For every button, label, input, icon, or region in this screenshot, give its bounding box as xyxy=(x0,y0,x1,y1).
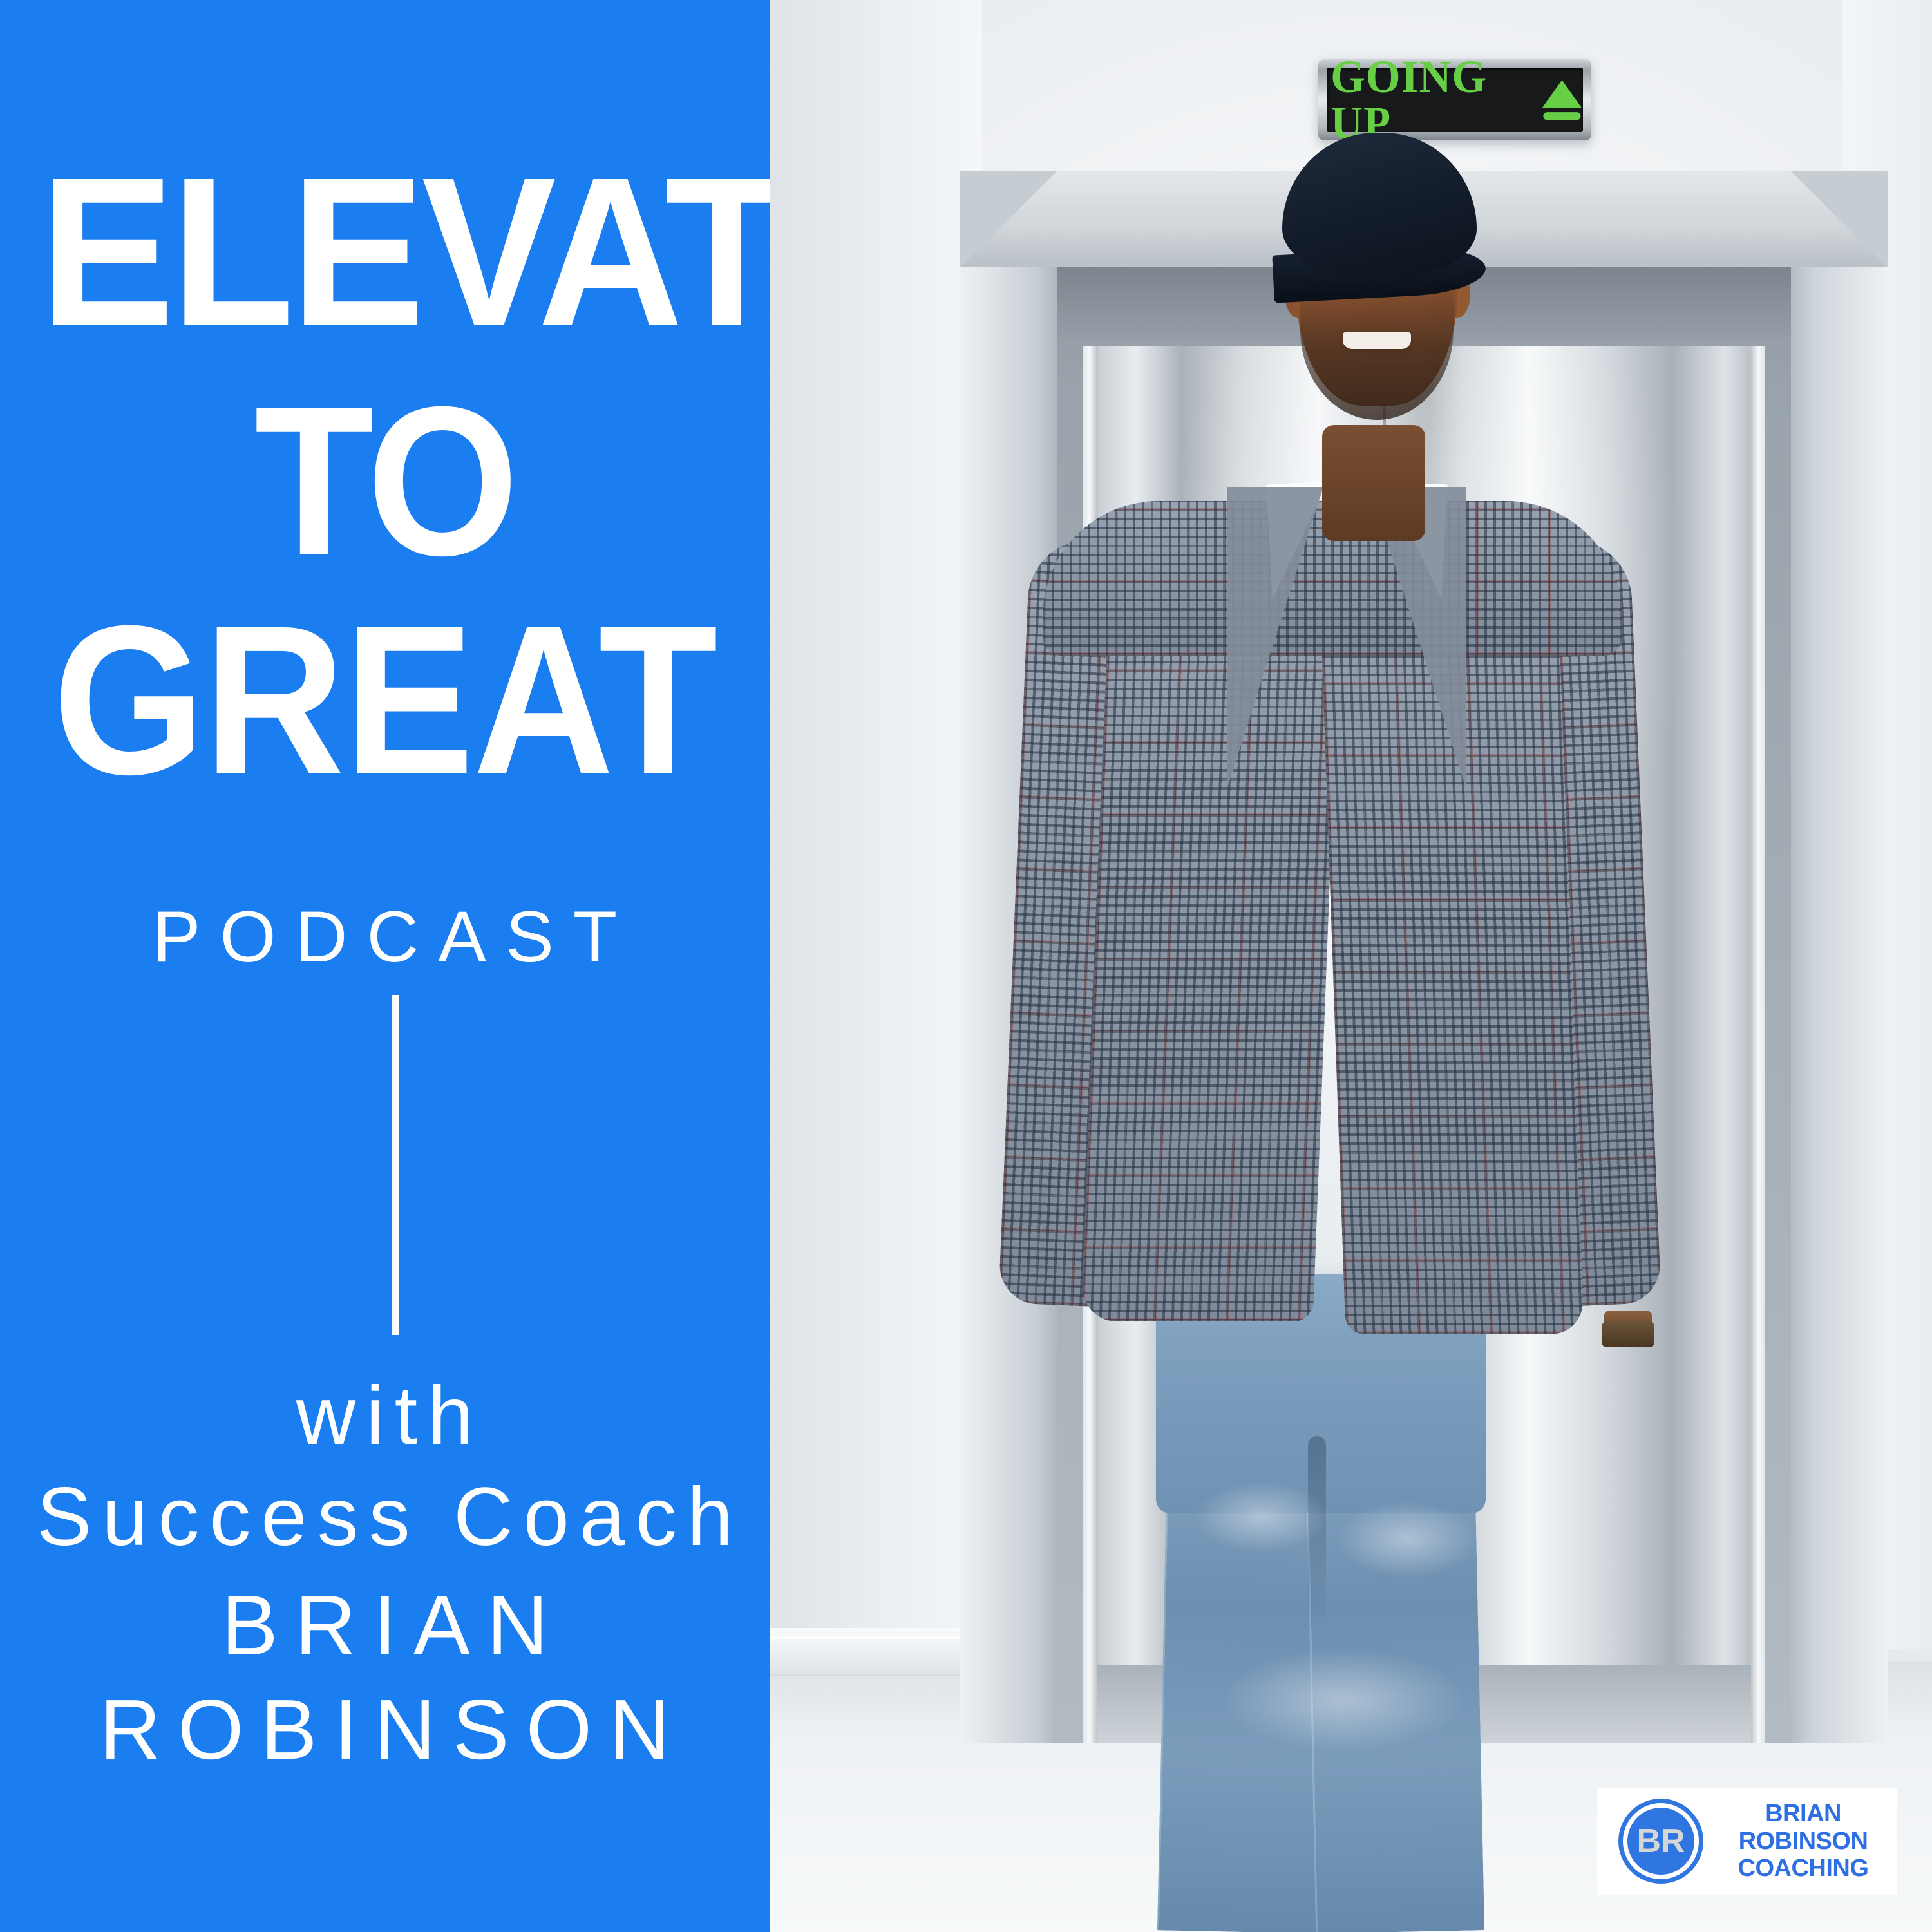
brand-name-line-1: BRIAN ROBINSON xyxy=(1716,1800,1891,1855)
title-line-elevate: ELEVATE xyxy=(40,162,770,341)
host-last-name: ROBINSON xyxy=(0,1681,770,1778)
brand-logo-mark: BR xyxy=(1623,1803,1699,1879)
podcast-cover-art: ELEVATE TO GREAT PODCAST with Success Co… xyxy=(0,0,1932,1932)
divider-rule xyxy=(392,995,399,1335)
denim-wash xyxy=(1336,1501,1478,1578)
denim-wash xyxy=(1195,1481,1330,1552)
subtitle-with: with xyxy=(0,1368,770,1463)
plaid-blazer xyxy=(1014,478,1645,1444)
brand-name-line-2: COACHING xyxy=(1716,1855,1891,1882)
beard xyxy=(1300,291,1454,420)
blazer-lapel-left xyxy=(1227,487,1323,790)
brand-logo[interactable]: BR BRIAN ROBINSON COACHING xyxy=(1597,1788,1897,1895)
subtitle-role: Success Coach xyxy=(0,1470,770,1564)
host-photo: GOING UP xyxy=(770,0,1932,1932)
title-panel: ELEVATE TO GREAT PODCAST with Success Co… xyxy=(0,0,770,1932)
baseball-cap xyxy=(1282,133,1477,276)
wristwatch xyxy=(1602,1321,1654,1347)
neck xyxy=(1322,425,1425,541)
brand-wordmark: BRIAN ROBINSON COACHING xyxy=(1716,1800,1897,1882)
brand-initials: BR xyxy=(1636,1824,1685,1858)
title-line-to: TO xyxy=(31,392,739,570)
host-figure xyxy=(770,0,1932,1932)
podcast-kicker: PODCAST xyxy=(0,895,770,978)
denim-wash xyxy=(1220,1649,1465,1752)
title-line-great: GREAT xyxy=(31,611,739,789)
host-first-name: BRIAN xyxy=(0,1577,770,1674)
smile xyxy=(1343,332,1411,349)
